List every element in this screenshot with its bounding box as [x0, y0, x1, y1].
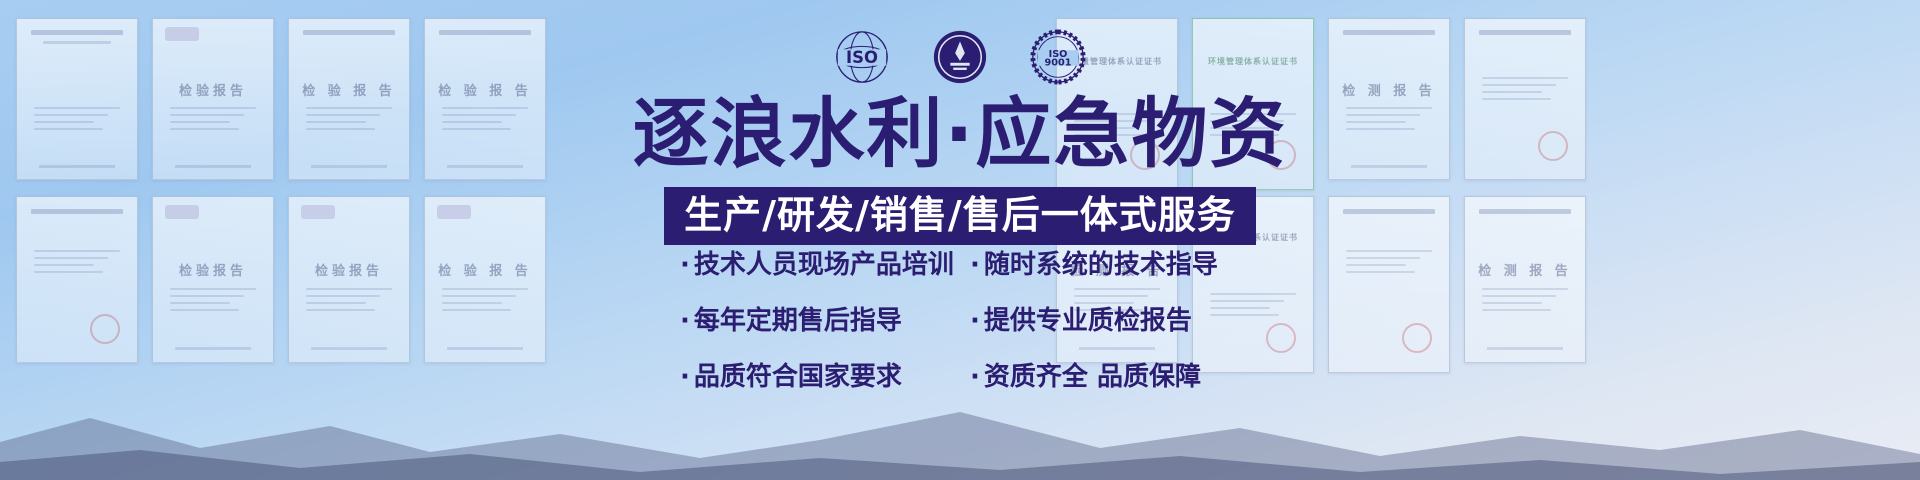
- iso-badge-icon: ISO: [833, 28, 891, 86]
- svg-text:ISO: ISO: [846, 48, 878, 67]
- certification-badges: ISO ISO 9001: [0, 28, 1920, 86]
- banner-subtitle-wrap: 生产/研发/销售/售后一体式服务: [0, 187, 1920, 245]
- feature-label: 技术人员现场产品培训: [694, 244, 954, 281]
- feature-item: ·技术人员现场产品培训: [680, 244, 960, 281]
- feature-row: ·技术人员现场产品培训 ·随时系统的技术指导: [680, 244, 1240, 281]
- feature-item: ·资质齐全 品质保障: [970, 356, 1240, 393]
- banner-subtitle: 生产/研发/销售/售后一体式服务: [664, 187, 1256, 245]
- feature-label: 资质齐全 品质保障: [984, 356, 1201, 393]
- feature-item: ·品质符合国家要求: [680, 356, 960, 393]
- bullet-dot-icon: ·: [680, 306, 690, 336]
- feature-row: ·每年定期售后指导 ·提供专业质检报告: [680, 300, 1240, 337]
- feature-label: 品质符合国家要求: [694, 356, 902, 393]
- banner-content: ISO ISO 9001 逐浪水利·应急物资: [0, 0, 1920, 480]
- feature-item: ·随时系统的技术指导: [970, 244, 1240, 281]
- quality-seal-badge-icon: [931, 28, 989, 86]
- svg-text:9001: 9001: [1045, 58, 1072, 69]
- bullet-dot-icon: ·: [680, 250, 690, 280]
- feature-label: 随时系统的技术指导: [984, 244, 1218, 281]
- bullet-dot-icon: ·: [680, 362, 690, 392]
- feature-label: 提供专业质检报告: [984, 300, 1192, 337]
- iso-9001-badge-icon: ISO 9001: [1029, 28, 1087, 86]
- feature-row: ·品质符合国家要求 ·资质齐全 品质保障: [680, 356, 1240, 393]
- feature-item: ·每年定期售后指导: [680, 300, 960, 337]
- bullet-dot-icon: ·: [970, 306, 980, 336]
- promo-banner: 检验报告 检 验 报 告 检 验 报 告 质量管理体系认证证书 环境管理体系认证…: [0, 0, 1920, 480]
- bullet-dot-icon: ·: [970, 250, 980, 280]
- feature-list: ·技术人员现场产品培训 ·随时系统的技术指导 ·每年定期售后指导 ·提供专业质检…: [0, 244, 1920, 393]
- banner-title: 逐浪水利·应急物资: [0, 96, 1920, 172]
- feature-item: ·提供专业质检报告: [970, 300, 1240, 337]
- bullet-dot-icon: ·: [970, 362, 980, 392]
- feature-label: 每年定期售后指导: [694, 300, 902, 337]
